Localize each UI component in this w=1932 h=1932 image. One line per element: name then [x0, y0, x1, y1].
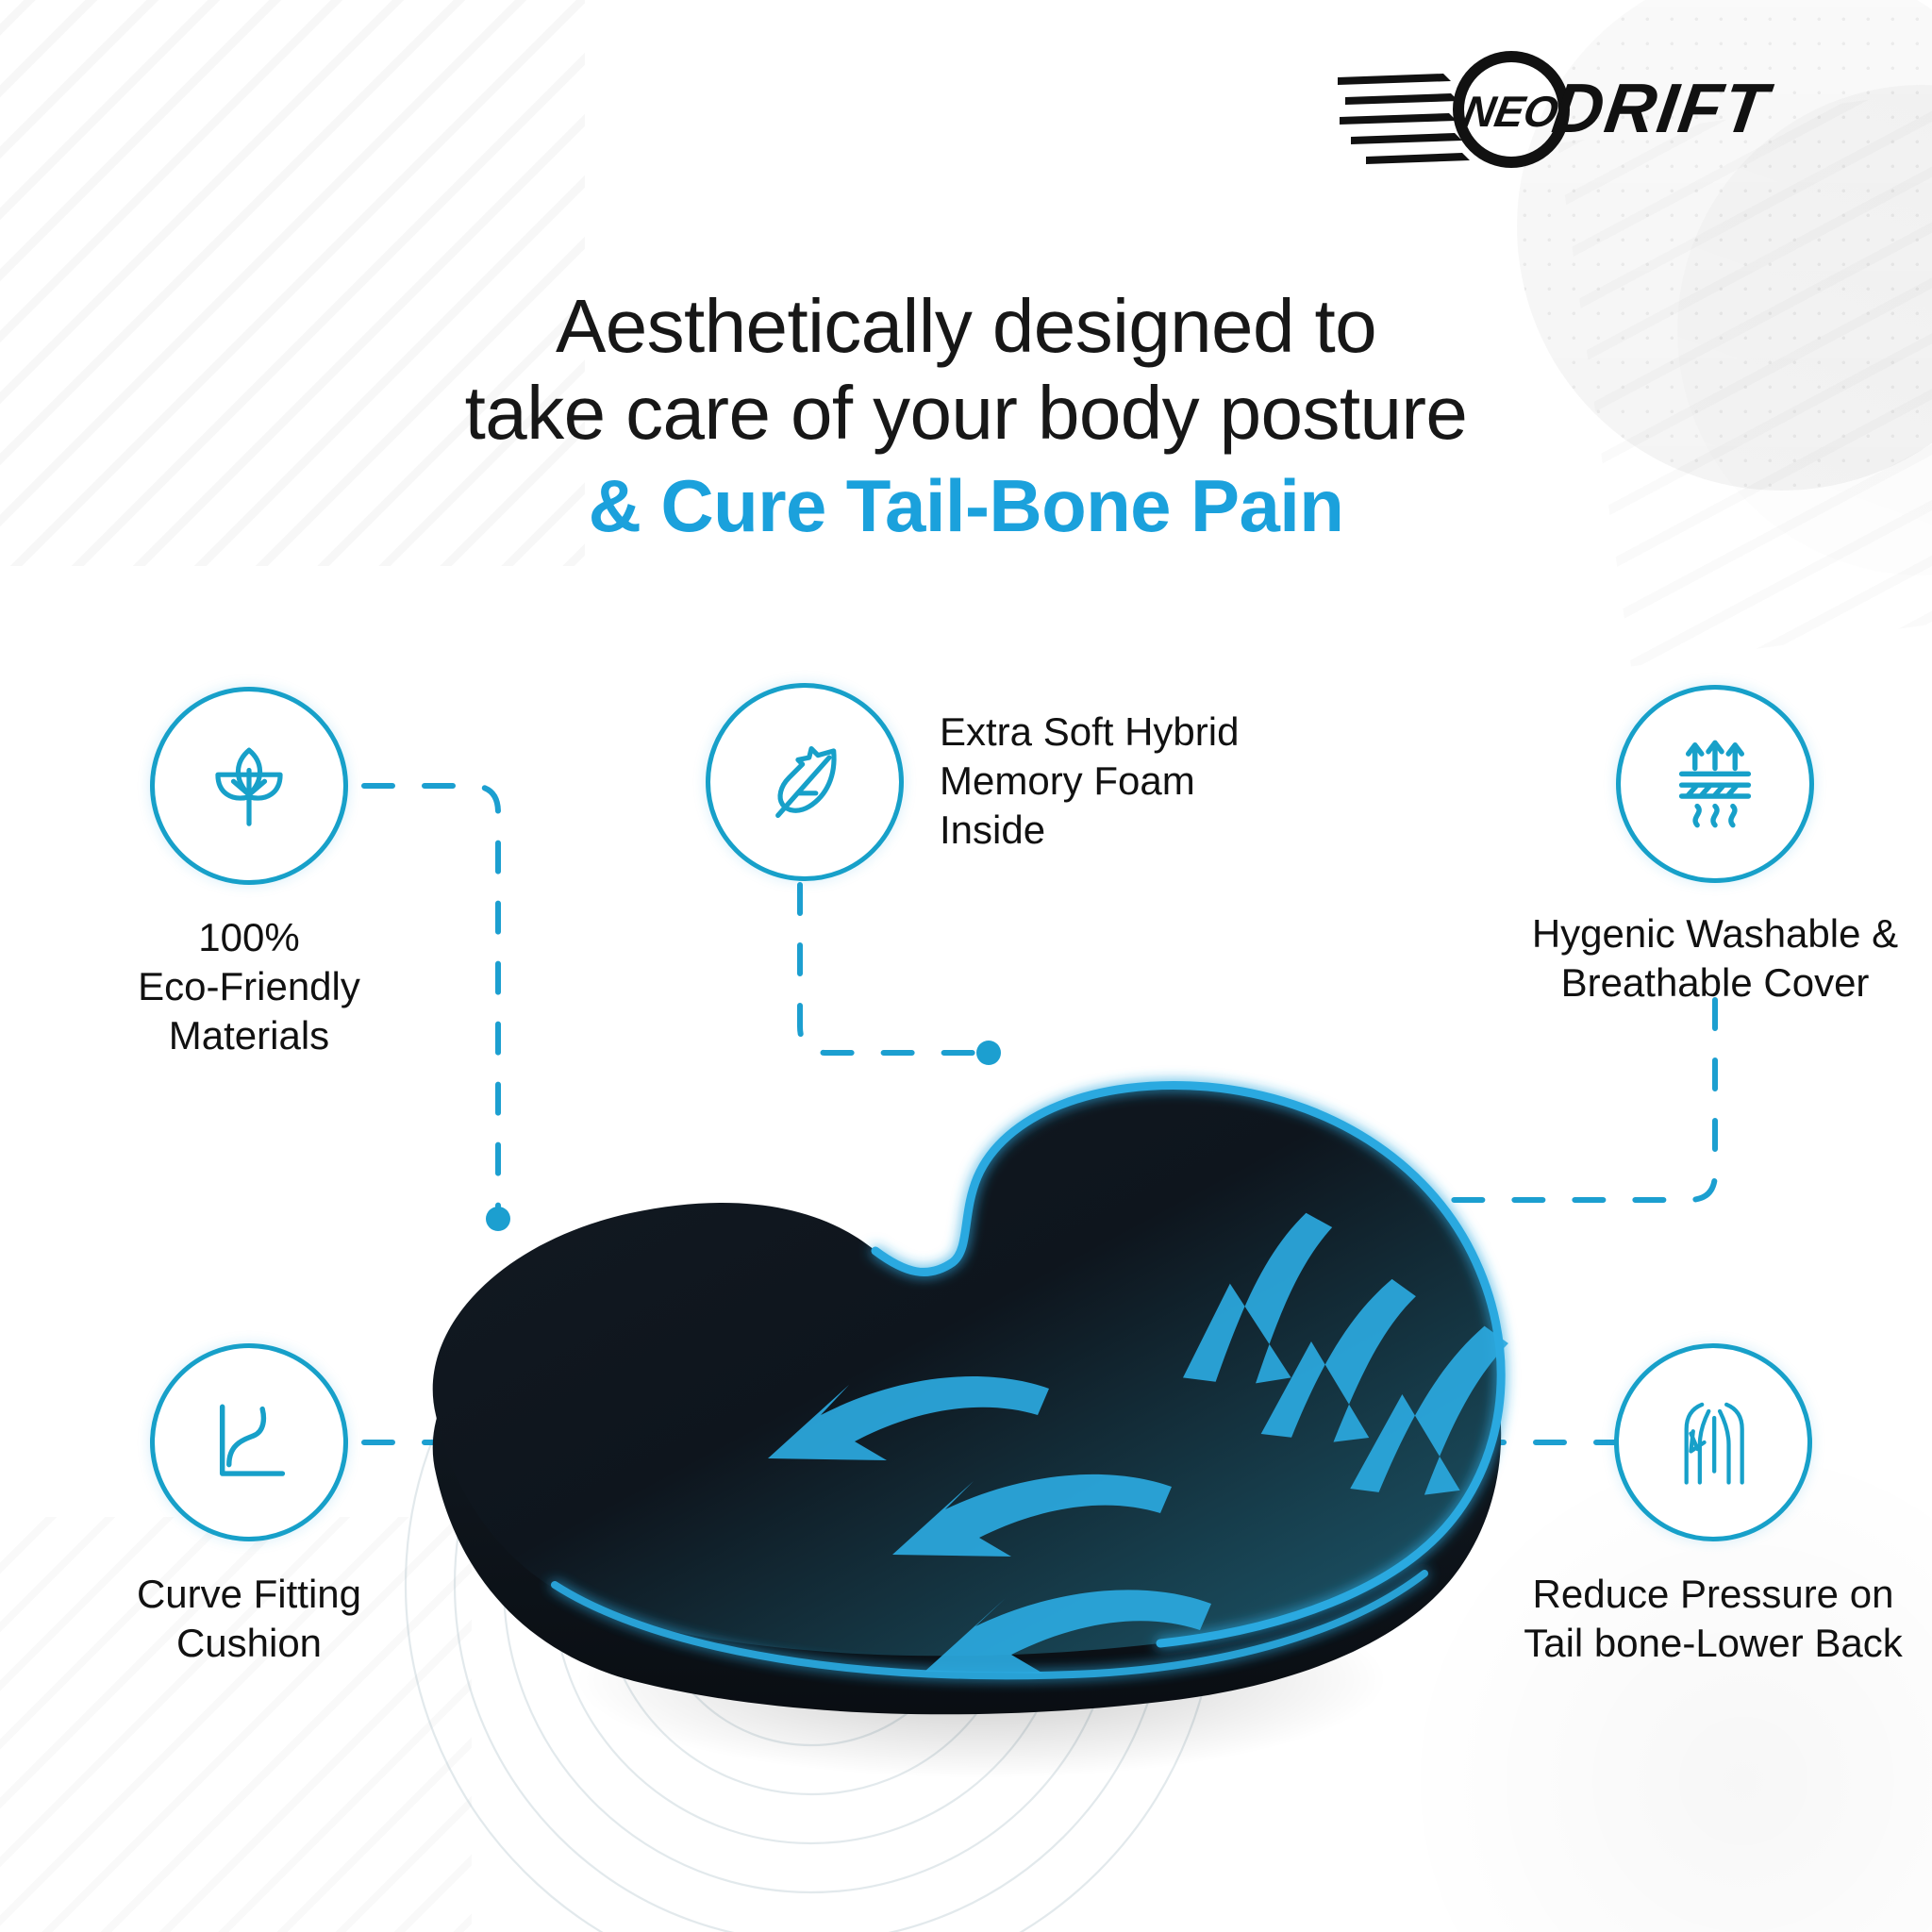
headline-line-3-accent: & Cure Tail-Bone Pain [0, 457, 1932, 555]
svg-text:DRIFT: DRIFT [1548, 69, 1777, 147]
feature-curve-fitting[interactable]: Curve Fitting Cushion [98, 1343, 400, 1668]
human-back-icon [1614, 1343, 1812, 1541]
page-title: Aesthetically designed to take care of y… [0, 283, 1932, 555]
feather-icon [706, 683, 904, 881]
headline-line-1: Aesthetically designed to [0, 283, 1932, 370]
svg-text:NEO: NEO [1459, 87, 1562, 136]
feature-label: Reduce Pressure on Tail bone-Lower Back [1430, 1570, 1932, 1668]
drift-wordmark: DRIFT [1548, 69, 1777, 147]
headline-line-2: take care of your body posture [0, 370, 1932, 457]
curve-graph-icon [150, 1343, 348, 1541]
feature-label: Extra Soft Hybrid Memory Foam Inside [940, 708, 1239, 855]
product-image-cushion [377, 1019, 1585, 1802]
feature-label: 100% Eco-Friendly Materials [98, 913, 400, 1060]
breathable-fabric-icon [1616, 685, 1814, 883]
brand-logo: NEO DRIFT [1338, 45, 1828, 168]
speed-lines-icon [1338, 74, 1470, 164]
infographic-canvas: NEO DRIFT Aesthetically designed to take… [0, 0, 1932, 1932]
feature-breathable-cover[interactable]: Hygenic Washable & Breathable Cover [1555, 685, 1875, 1008]
feature-eco-friendly[interactable]: 100% Eco-Friendly Materials [98, 687, 400, 1060]
feature-reduce-pressure[interactable]: Reduce Pressure on Tail bone-Lower Back [1553, 1343, 1874, 1668]
feature-label: Hygenic Washable & Breathable Cover [1451, 909, 1932, 1008]
feature-label: Curve Fitting Cushion [42, 1570, 457, 1668]
feature-memory-foam[interactable]: Extra Soft Hybrid Memory Foam Inside [706, 683, 1239, 881]
leaf-icon [150, 687, 348, 885]
